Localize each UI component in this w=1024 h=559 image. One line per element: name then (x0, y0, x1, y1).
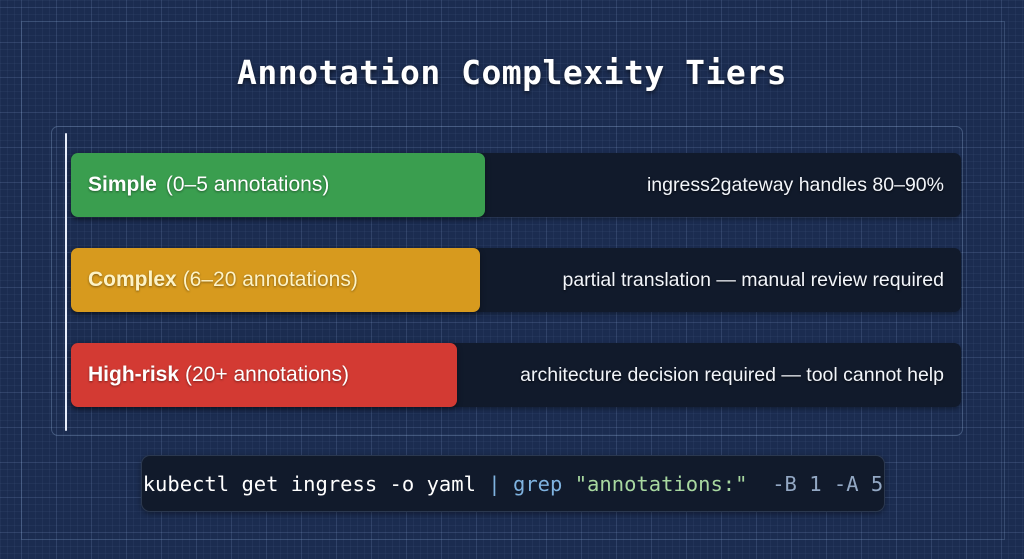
code-space (501, 472, 513, 496)
code-space (476, 472, 488, 496)
code-token-flags: -B 1 -A 5 (772, 472, 883, 496)
slide-content: Annotation Complexity Tiers ingress2gate… (0, 0, 1024, 559)
tier-row: architecture decision required — tool ca… (71, 343, 961, 407)
tier-bar-simple: Simple (0–5 annotations) (71, 153, 485, 217)
tier-row: ingress2gateway handles 80–90% Simple (0… (71, 153, 961, 217)
tier-row: partial translation — manual review requ… (71, 248, 961, 312)
tier-range: (0–5 annotations) (166, 173, 329, 197)
tier-range: (6–20 annotations) (183, 268, 358, 292)
code-space (562, 472, 574, 496)
tier-label: Complex (88, 268, 177, 292)
code-line: kubectl get ingress -o yaml | grep "anno… (143, 472, 884, 496)
code-token-command: kubectl get ingress -o yaml (143, 472, 476, 496)
tier-note: ingress2gateway handles 80–90% (647, 153, 944, 217)
code-token-grep: grep (513, 472, 562, 496)
tier-note: partial translation — manual review requ… (562, 248, 944, 312)
accent-line (65, 133, 67, 431)
code-token-pipe: | (488, 472, 500, 496)
tier-range: (20+ annotations) (185, 363, 349, 387)
tier-label: High-risk (88, 363, 179, 387)
code-block: kubectl get ingress -o yaml | grep "anno… (141, 455, 885, 512)
code-token-pattern: "annotations:" (575, 472, 748, 496)
tier-panel: ingress2gateway handles 80–90% Simple (0… (51, 126, 963, 436)
page-title: Annotation Complexity Tiers (0, 53, 1024, 92)
tier-bar-high-risk: High-risk (20+ annotations) (71, 343, 457, 407)
code-space (748, 472, 773, 496)
tier-label: Simple (88, 173, 157, 197)
tier-bar-complex: Complex (6–20 annotations) (71, 248, 480, 312)
tier-note: architecture decision required — tool ca… (520, 343, 944, 407)
